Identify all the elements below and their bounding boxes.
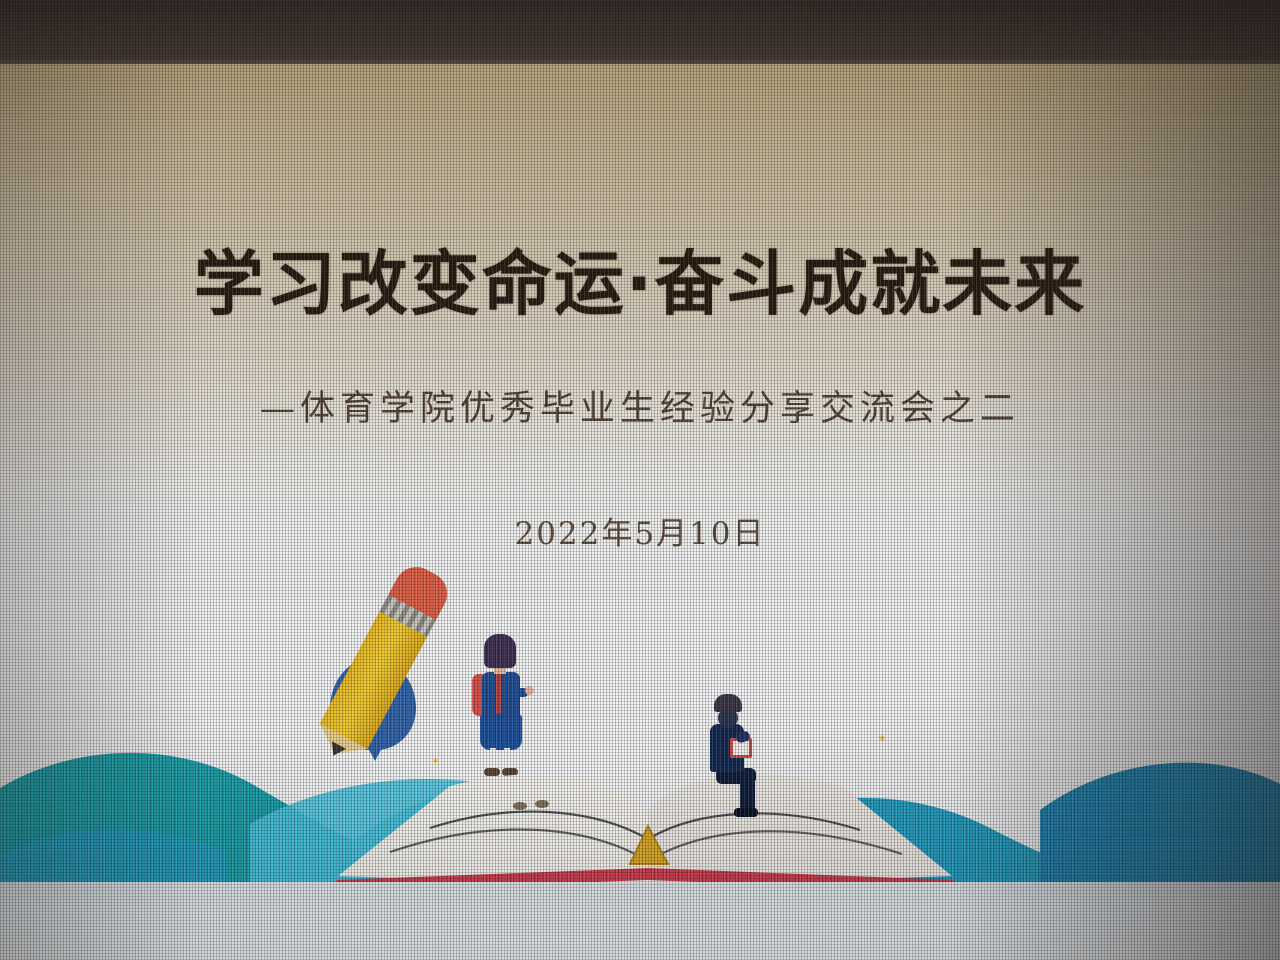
page-title: 学习改变命运·奋斗成就未来 xyxy=(0,228,1280,329)
slide-subtitle: —体育学院优秀毕业生经验分享交流会之二 xyxy=(0,380,1280,431)
slide-text-layer: 学习改变命运·奋斗成就未来 —体育学院优秀毕业生经验分享交流会之二 2022年5… xyxy=(0,0,1280,960)
projected-slide-photo: 学习改变命运·奋斗成就未来 —体育学院优秀毕业生经验分享交流会之二 2022年5… xyxy=(0,0,1280,960)
slide-date: 2022年5月10日 xyxy=(0,508,1280,553)
